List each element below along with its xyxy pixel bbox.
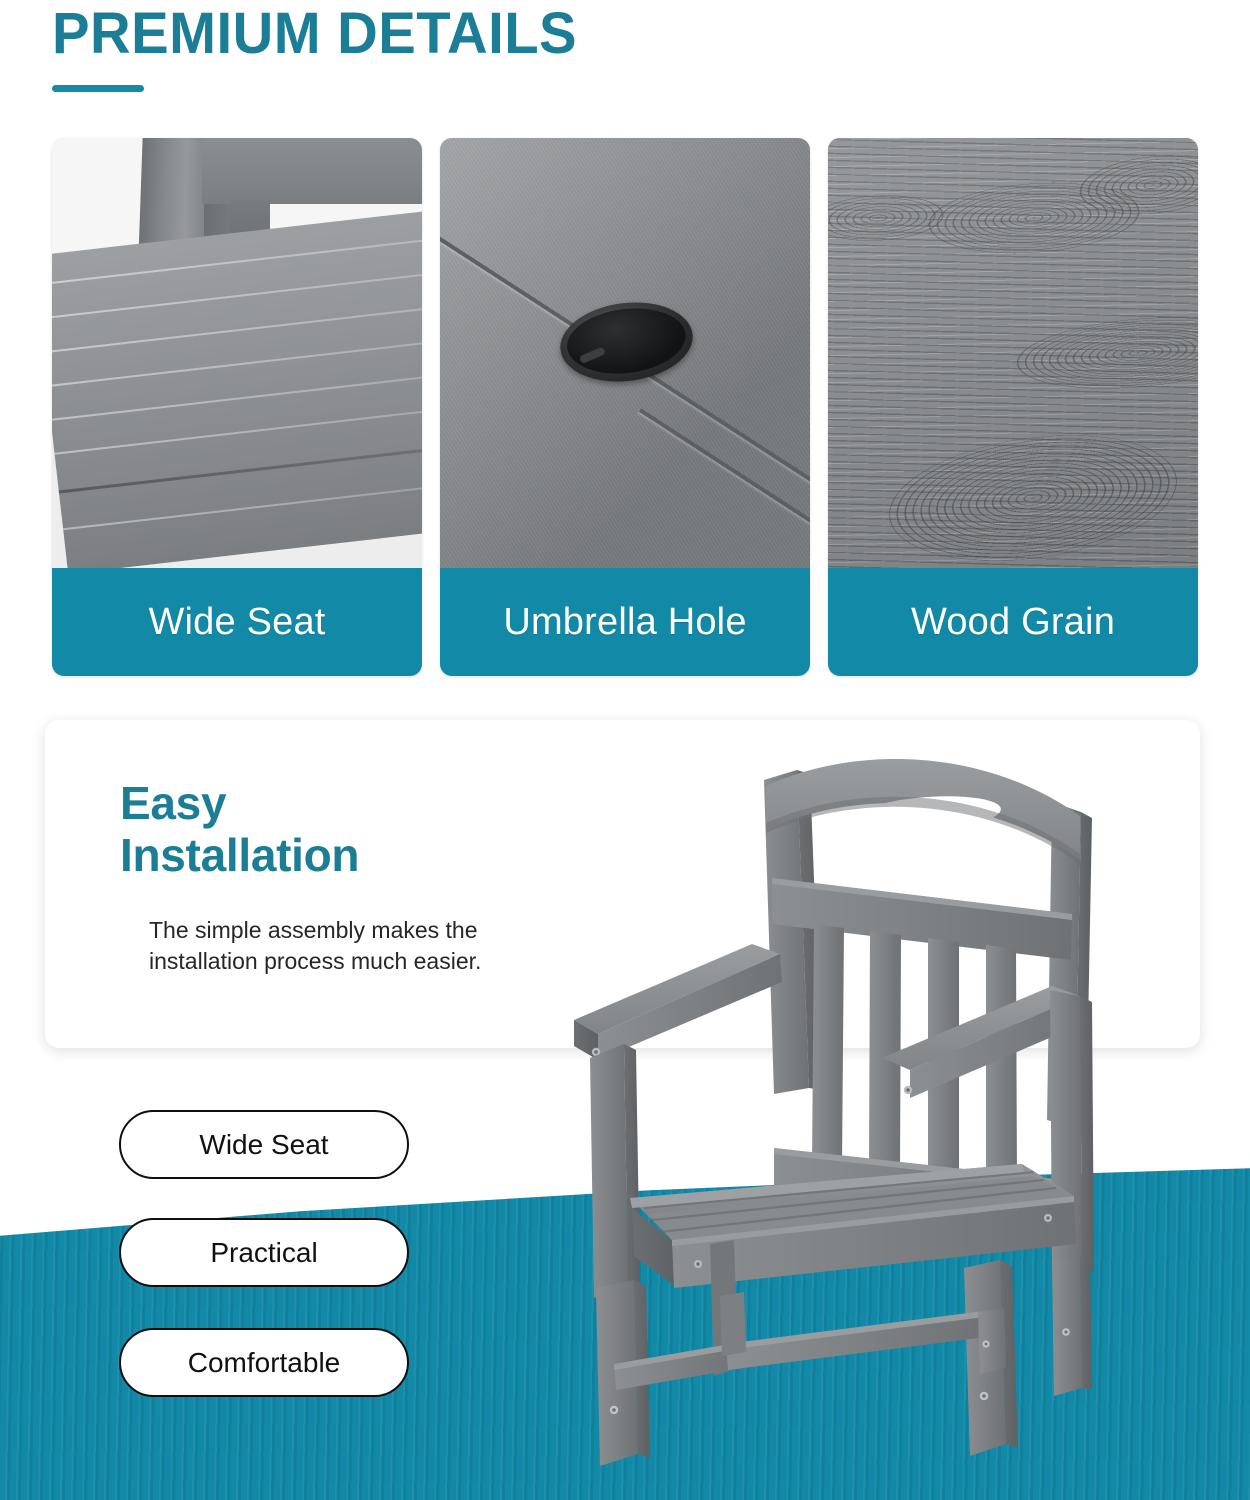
umbrella-hole-closeup-photo — [440, 138, 810, 568]
easy-installation-title-line-1: Easy — [120, 778, 359, 830]
feature-pill-wide-seat[interactable]: Wide Seat — [119, 1110, 409, 1179]
infographic-page: PREMIUM DETAILS — [0, 0, 1250, 1500]
title-underline-rule — [52, 85, 144, 92]
feature-card-wood-grain[interactable]: Wood Grain — [828, 138, 1198, 676]
feature-card-row: Wide Seat Umbrella Hole — [52, 138, 1200, 676]
product-chair-image — [552, 728, 1122, 1468]
feature-pill-comfortable[interactable]: Comfortable — [119, 1328, 409, 1397]
chair-seat-closeup-photo — [52, 138, 422, 568]
page-title: PREMIUM DETAILS — [52, 4, 577, 65]
easy-installation-title: Easy Installation — [120, 778, 359, 881]
easy-installation-body-text: The simple assembly makes the installati… — [149, 915, 579, 976]
feature-card-label: Umbrella Hole — [503, 601, 746, 644]
feature-card-umbrella-hole[interactable]: Umbrella Hole — [440, 138, 810, 676]
feature-card-label: Wood Grain — [911, 601, 1115, 644]
feature-card-wide-seat[interactable]: Wide Seat — [52, 138, 422, 676]
feature-card-band: Wide Seat — [52, 568, 422, 676]
wood-grain-texture-photo — [828, 138, 1198, 568]
easy-installation-title-line-2: Installation — [120, 830, 359, 882]
feature-pill-label: Wide Seat — [199, 1129, 328, 1161]
feature-pill-label: Comfortable — [188, 1347, 341, 1379]
feature-pill-label: Practical — [210, 1237, 317, 1269]
feature-card-label: Wide Seat — [148, 601, 325, 644]
feature-pill-practical[interactable]: Practical — [119, 1218, 409, 1287]
feature-card-band: Umbrella Hole — [440, 568, 810, 676]
feature-card-band: Wood Grain — [828, 568, 1198, 676]
